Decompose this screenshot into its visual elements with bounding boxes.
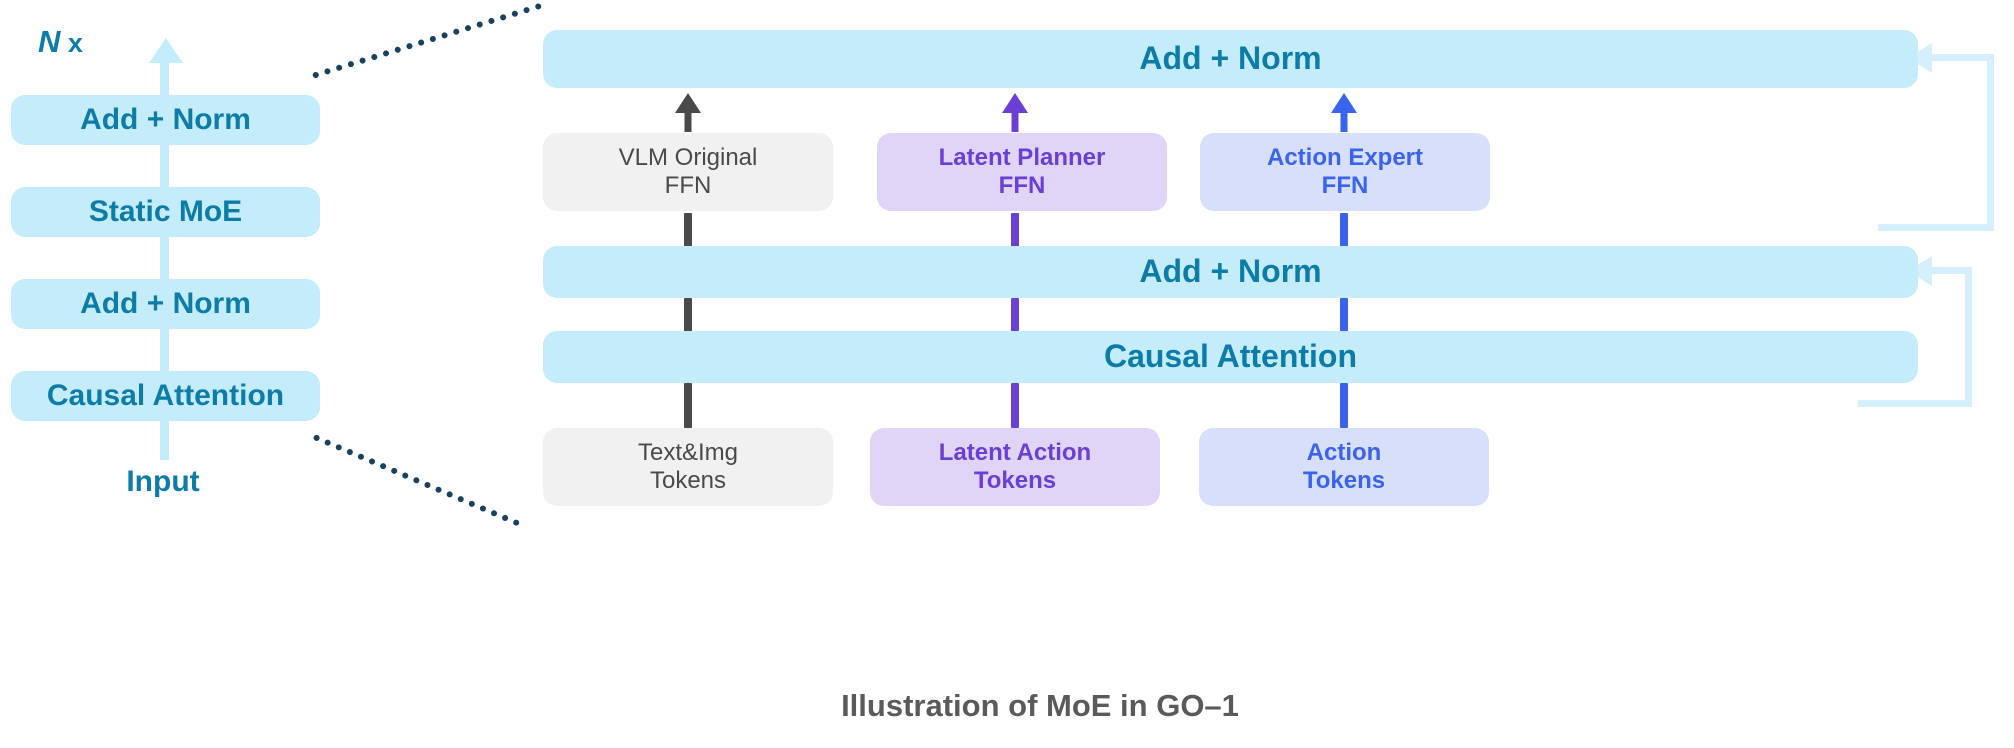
connector-add-norm-to-causal-grey [684, 298, 692, 333]
connector-add-norm-to-causal-purple [1011, 298, 1019, 333]
left-flow-spine-1 [160, 140, 169, 192]
connector-latent-action-tokens-to-causal [1011, 383, 1019, 428]
left-block-add-norm-bottom: Add + Norm [11, 279, 320, 329]
left-block-add-norm-top: Add + Norm [11, 95, 320, 145]
residual-skip-inner-horizontal-bottom [1858, 400, 1972, 407]
arrow-vlm-to-add-norm [674, 93, 702, 132]
residual-skip-outer-horizontal-top [1932, 54, 1994, 61]
right-causal-attention: Causal Attention [543, 331, 1918, 383]
expert-action-expert-ffn: Action Expert FFN [1200, 133, 1490, 211]
repeat-count-label: N x [38, 24, 83, 60]
right-add-norm-mid: Add + Norm [543, 246, 1918, 298]
left-flow-spine-bottom [160, 418, 169, 460]
arrow-shaft-indigo [1341, 106, 1348, 132]
repeat-count-x: x [60, 28, 83, 58]
left-input-label: Input [108, 465, 218, 499]
token-latent-action: Latent Action Tokens [870, 428, 1160, 506]
repeat-count-n: N [38, 24, 60, 59]
left-flow-spine-top [160, 60, 169, 98]
dotted-connector-bottom [313, 434, 521, 527]
left-block-static-moe: Static MoE [11, 187, 320, 237]
right-add-norm-top: Add + Norm [543, 30, 1918, 88]
token-action: Action Tokens [1199, 428, 1489, 506]
residual-skip-outer-horizontal-bottom [1878, 224, 1994, 231]
token-text-img: Text&Img Tokens [543, 428, 833, 506]
arrow-shaft-grey [685, 106, 692, 132]
left-flow-arrowhead [149, 38, 183, 63]
residual-skip-inner-vertical [1965, 267, 1972, 407]
connector-vlm-ffn-to-add-norm [684, 213, 692, 248]
arrow-action-expert-to-add-norm [1330, 93, 1358, 132]
connector-latent-planner-ffn-to-add-norm [1011, 213, 1019, 248]
residual-skip-outer-vertical [1987, 54, 1994, 230]
figure-caption: Illustration of MoE in GO–1 [540, 688, 1540, 724]
arrow-shaft-purple [1012, 106, 1019, 132]
expert-vlm-original-ffn: VLM Original FFN [543, 133, 833, 211]
connector-text-img-tokens-to-causal [684, 383, 692, 428]
connector-add-norm-to-causal-indigo [1340, 298, 1348, 333]
arrow-latent-planner-to-add-norm [1001, 93, 1029, 132]
connector-action-tokens-to-causal [1340, 383, 1348, 428]
connector-action-expert-ffn-to-add-norm [1340, 213, 1348, 248]
left-block-causal-attention: Causal Attention [11, 371, 320, 421]
expert-latent-planner-ffn: Latent Planner FFN [877, 133, 1167, 211]
dotted-connector-top [312, 3, 542, 79]
figure-canvas: N x Add + Norm Static MoE Add + Norm Cau… [0, 0, 2014, 748]
